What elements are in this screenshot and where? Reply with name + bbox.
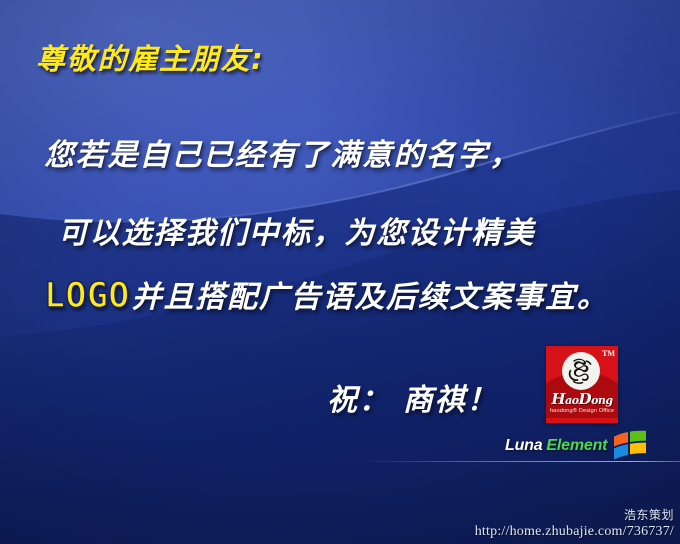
haodong-wordmark: HaoDong [546, 390, 618, 408]
body-line-2: 可以选择我们中标，为您设计精美 [58, 208, 535, 252]
footer: 浩东策划 http://home.zhubajie.com/736737/ [475, 508, 674, 541]
haodong-wordmark-d: D [579, 390, 592, 408]
haodong-tagline: haodong® Design Office [548, 408, 616, 414]
haodong-emblem-circle [562, 352, 600, 390]
trademark-mark: TM [602, 350, 615, 358]
windows-flag-icon [612, 430, 648, 460]
footer-url[interactable]: http://home.zhubajie.com/736737/ [475, 523, 674, 541]
luna-element-brand: Luna Element [505, 431, 648, 461]
haodong-wordmark-h: H [551, 390, 565, 408]
closing-text: 祝： 商祺！ [327, 375, 498, 419]
footer-brand: 浩东策划 [475, 508, 674, 523]
dragon-icon [564, 354, 598, 388]
haodong-wordmark-ong: ong [591, 394, 613, 407]
haodong-logo: TM HaoDong haodong® Design Office [546, 346, 618, 423]
haodong-wordmark-ao: ao [565, 394, 578, 407]
salutation-text: 尊敬的雇主朋友: [36, 36, 265, 78]
divider-line [360, 461, 680, 462]
body-line-1: 您若是自己已经有了满意的名字， [44, 130, 521, 174]
presentation-slide: 尊敬的雇主朋友: 您若是自己已经有了满意的名字， 可以选择我们中标，为您设计精美… [0, 0, 680, 544]
body-line-3: LOGO 并且搭配广告语及后续文案事宜。 [44, 272, 609, 316]
luna-word: Luna [505, 437, 542, 455]
element-word: Element [546, 437, 607, 455]
logo-keyword: LOGO [44, 279, 130, 314]
body-line-3-text: 并且搭配广告语及后续文案事宜。 [132, 272, 609, 316]
